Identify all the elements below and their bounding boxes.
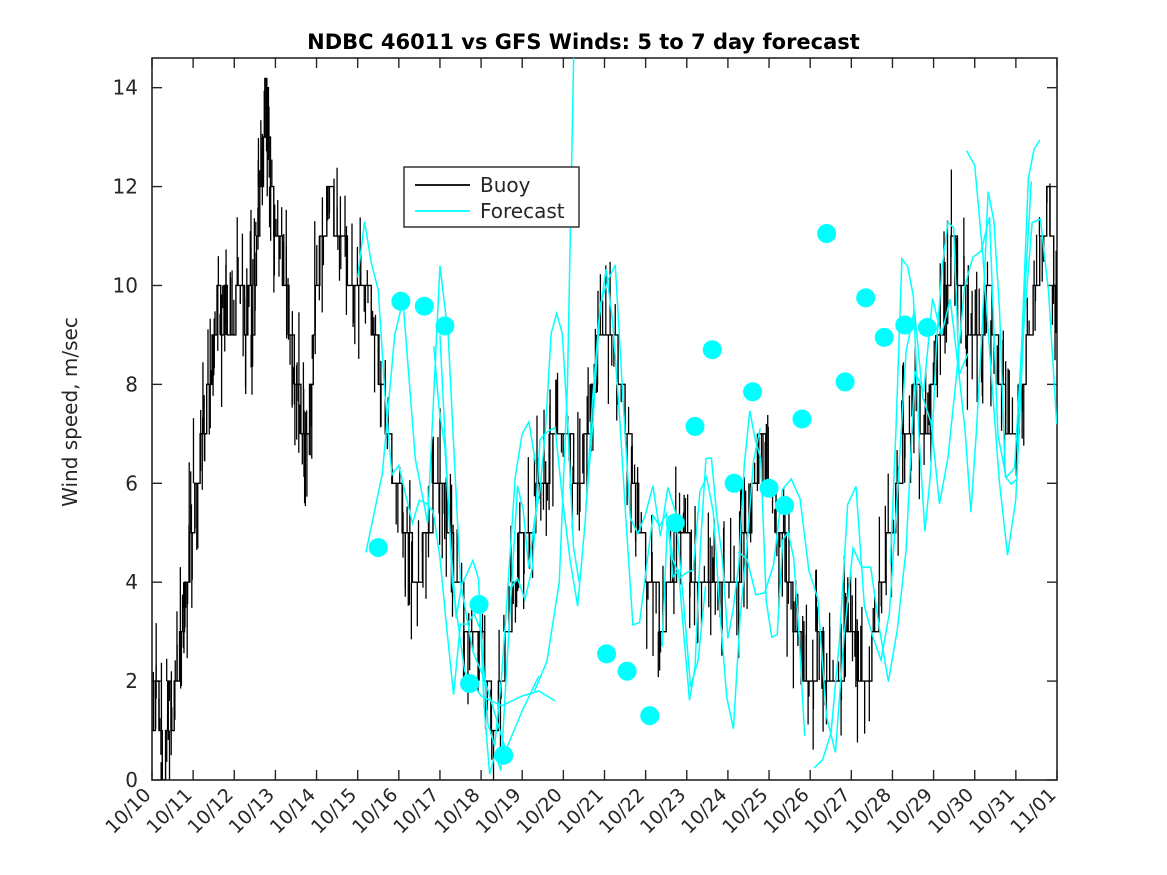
- forecast-marker[interactable]: [817, 224, 836, 243]
- legend-label-forecast: Forecast: [480, 199, 565, 223]
- y-tick-label: 6: [125, 471, 138, 495]
- x-tick-label: 10/31: [965, 784, 1019, 838]
- x-tick-label: 10/29: [883, 784, 937, 838]
- x-tick-label: 10/20: [513, 784, 567, 838]
- y-tick-label: 12: [113, 175, 138, 199]
- x-tick-label: 10/28: [842, 784, 896, 838]
- figure-canvas: NDBC 46011 vs GFS Winds: 5 to 7 day fore…: [0, 0, 1167, 875]
- forecast-marker[interactable]: [856, 288, 875, 307]
- x-tick-label: 11/01: [1006, 784, 1060, 838]
- x-tick-label: 10/12: [184, 784, 238, 838]
- forecast-marker[interactable]: [494, 746, 513, 765]
- x-tick-label: 10/15: [307, 784, 361, 838]
- y-tick-label: 4: [125, 570, 138, 594]
- x-tick-label: 10/26: [759, 784, 813, 838]
- x-tick-label: 10/23: [636, 784, 690, 838]
- plot-background: [152, 58, 1057, 780]
- forecast-marker[interactable]: [703, 340, 722, 359]
- forecast-marker[interactable]: [725, 474, 744, 493]
- forecast-marker[interactable]: [895, 316, 914, 335]
- forecast-marker[interactable]: [435, 317, 454, 336]
- x-tick-label: 10/10: [101, 784, 155, 838]
- forecast-marker[interactable]: [618, 662, 637, 681]
- forecast-marker[interactable]: [391, 292, 410, 311]
- x-tick-label: 10/13: [225, 784, 279, 838]
- forecast-marker[interactable]: [415, 297, 434, 316]
- forecast-marker[interactable]: [775, 496, 794, 515]
- forecast-marker[interactable]: [597, 644, 616, 663]
- forecast-marker[interactable]: [470, 595, 489, 614]
- plot-area: 02468101214 10/1010/1110/1210/1310/1410/…: [0, 0, 1167, 875]
- x-tick-label: 10/25: [718, 784, 772, 838]
- forecast-marker[interactable]: [792, 410, 811, 429]
- y-tick-label: 8: [125, 372, 138, 396]
- x-tick-label: 10/11: [142, 784, 196, 838]
- legend[interactable]: Buoy Forecast: [404, 167, 579, 227]
- forecast-marker[interactable]: [743, 382, 762, 401]
- x-tick-label: 10/30: [924, 784, 978, 838]
- x-tick-label: 10/22: [595, 784, 649, 838]
- forecast-marker[interactable]: [666, 513, 685, 532]
- x-tick-label: 10/18: [430, 784, 484, 838]
- forecast-marker[interactable]: [836, 372, 855, 391]
- y-tick-label: 10: [113, 273, 138, 297]
- x-tick-label: 10/21: [554, 784, 608, 838]
- forecast-marker[interactable]: [875, 328, 894, 347]
- y-tick-label: 2: [125, 669, 138, 693]
- x-tick-label: 10/27: [801, 784, 855, 838]
- forecast-marker[interactable]: [640, 706, 659, 725]
- x-tick-label: 10/17: [389, 784, 443, 838]
- forecast-marker[interactable]: [686, 417, 705, 436]
- forecast-marker[interactable]: [460, 674, 479, 693]
- forecast-marker[interactable]: [369, 538, 388, 557]
- y-tick-label: 14: [113, 76, 138, 100]
- forecast-marker[interactable]: [760, 479, 779, 498]
- axes-frame: [152, 58, 1057, 780]
- forecast-marker[interactable]: [918, 318, 937, 337]
- x-tick-label: 10/16: [348, 784, 402, 838]
- x-tick-label: 10/19: [471, 784, 525, 838]
- x-tick-label: 10/14: [266, 784, 320, 838]
- x-tick-label: 10/24: [677, 784, 731, 838]
- legend-label-buoy: Buoy: [480, 173, 531, 197]
